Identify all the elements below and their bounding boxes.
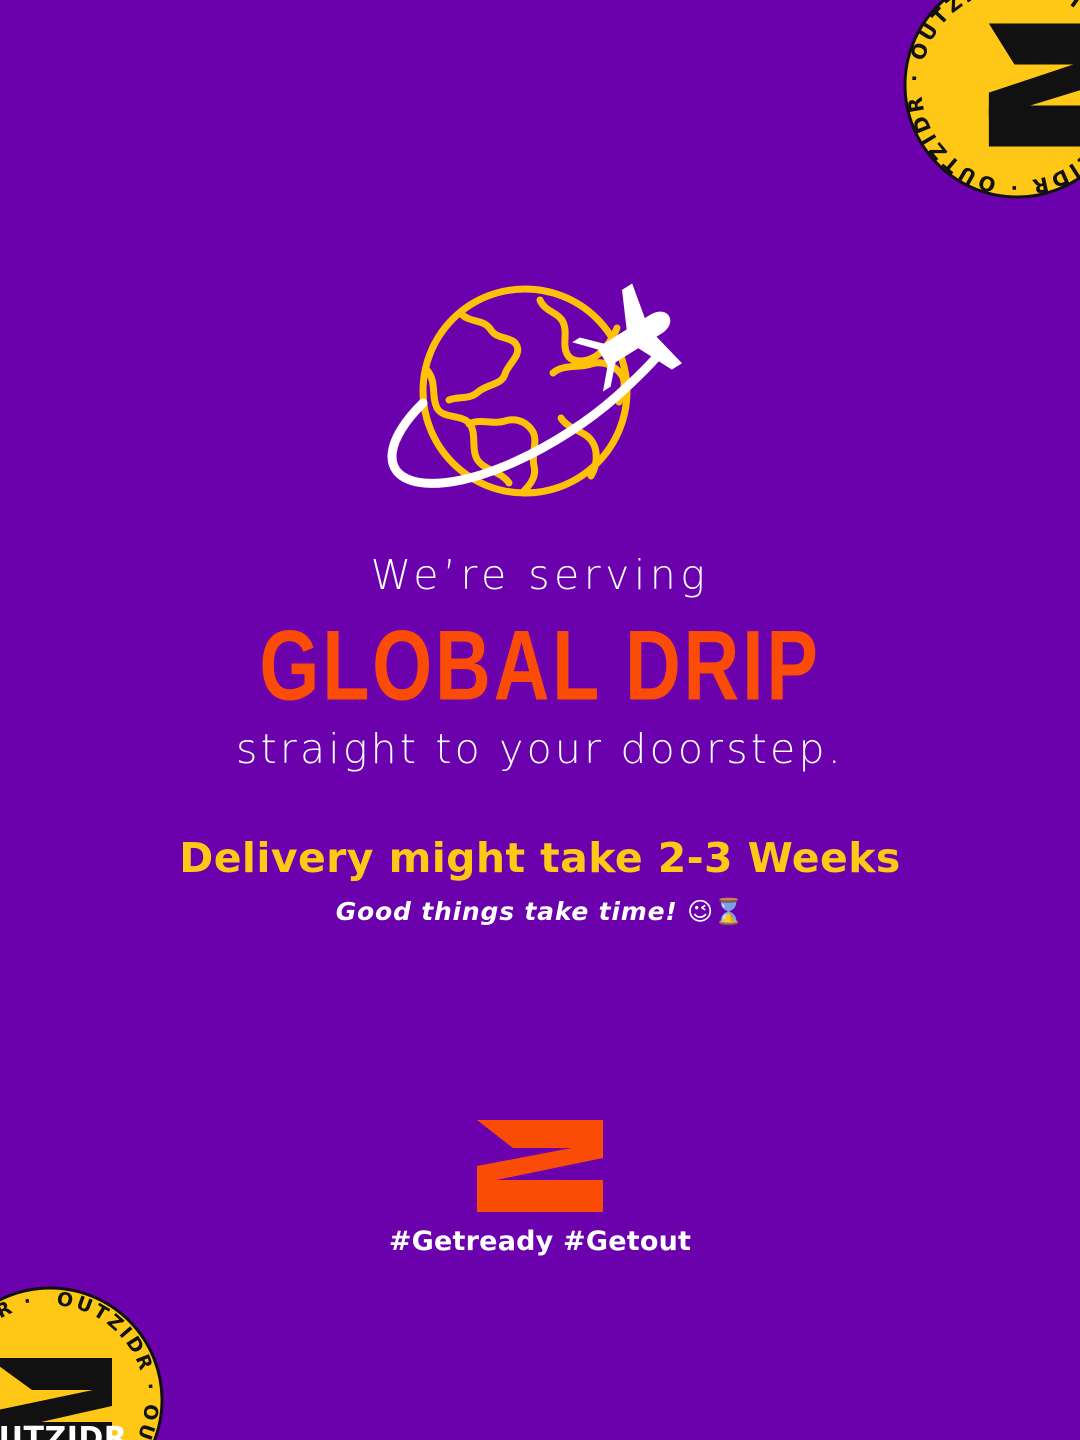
- outzidr-seal-bottom-left: OUTZIDR · OUTZIDR · OUTZIDR · OUTZIDR · …: [0, 1282, 168, 1440]
- copy-block: We’re serving GLOBAL DRIP straight to yo…: [0, 552, 1080, 927]
- reassurance-label: Good things take time!: [336, 897, 678, 926]
- reassurance-text: Good things take time! 😉⌛: [0, 897, 1080, 927]
- svg-text:OUTZIDR: OUTZIDR: [0, 1421, 127, 1440]
- z-logo-icon: [477, 1120, 603, 1212]
- wink-hourglass-emoji: 😉⌛: [687, 897, 744, 926]
- hashtags-text: #Getready #Getout: [0, 1226, 1080, 1257]
- poster-canvas: OUTZIDR · OUTZIDR · OUTZIDR · OUTZIDR · …: [0, 0, 1080, 1440]
- footer-block: #Getready #Getout: [0, 1120, 1080, 1257]
- subheadline-text: straight to your doorstep.: [0, 726, 1080, 774]
- delivery-notice-text: Delivery might take 2-3 Weeks: [0, 835, 1080, 883]
- globe-airplane-illustration: [365, 278, 715, 510]
- headline-text: GLOBAL DRIP: [43, 610, 1037, 721]
- globe-icon: [423, 289, 627, 493]
- outzidr-seal-top-right: OUTZIDR · OUTZIDR · OUTZIDR · OUTZIDR ·: [899, 0, 1080, 203]
- eyebrow-text: We’re serving: [0, 552, 1080, 600]
